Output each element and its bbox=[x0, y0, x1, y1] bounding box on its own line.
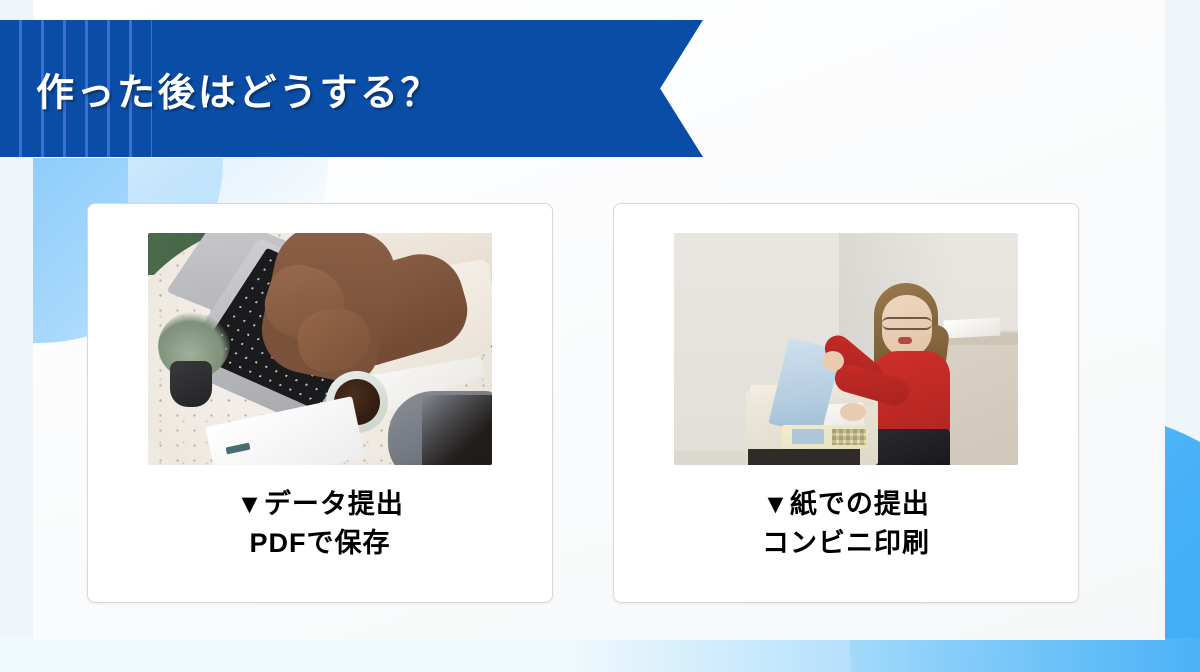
laptop-typing-photo: 俯瞰で撮影されたノートパソコンをタイピングする手、白いテラゾ調のテーブル、コーヒ… bbox=[148, 233, 492, 465]
caption-line-2: コンビニ印刷 bbox=[762, 524, 930, 563]
photo1-plant-pot bbox=[170, 361, 212, 407]
caption-line-1: ▼紙での提出 bbox=[762, 489, 930, 519]
caption-line-2: PDFで保存 bbox=[236, 524, 404, 563]
photo2-lower-hand bbox=[840, 403, 866, 421]
photo2-upper-hand bbox=[822, 351, 844, 371]
photo2-copier-screen bbox=[792, 429, 824, 444]
slide-root: 作った後はどうする？ bbox=[0, 0, 1200, 672]
decorative-bottom-band bbox=[0, 638, 1200, 672]
page-title: 作った後はどうする？ bbox=[36, 61, 441, 116]
photo2-cabinet-paper-stack bbox=[944, 318, 1001, 339]
title-ribbon-banner: 作った後はどうする？ bbox=[0, 20, 703, 157]
photo2-copier-base bbox=[748, 449, 860, 465]
card-list: 俯瞰で撮影されたノートパソコンをタイピングする手、白いテラゾ調のテーブル、コーヒ… bbox=[87, 203, 1079, 603]
photo2-lips bbox=[898, 337, 912, 344]
card-paper-submission[interactable]: 赤いトップスの女性がオフィスのコピー機で用紙をセットしている様子 ▼紙での提出 … bbox=[613, 203, 1079, 603]
photo2-copier-buttons bbox=[832, 429, 866, 445]
photo1-shadow-corner bbox=[422, 395, 492, 465]
photo2-glasses bbox=[882, 317, 932, 330]
card-caption-data-submission: ▼データ提出 PDFで保存 bbox=[236, 485, 404, 563]
photo2-black-skirt bbox=[874, 429, 950, 465]
caption-line-1: ▼データ提出 bbox=[236, 489, 404, 519]
card-data-submission[interactable]: 俯瞰で撮影されたノートパソコンをタイピングする手、白いテラゾ調のテーブル、コーヒ… bbox=[87, 203, 553, 603]
copier-printing-photo: 赤いトップスの女性がオフィスのコピー機で用紙をセットしている様子 bbox=[674, 233, 1018, 465]
card-caption-paper-submission: ▼紙での提出 コンビニ印刷 bbox=[762, 485, 930, 563]
